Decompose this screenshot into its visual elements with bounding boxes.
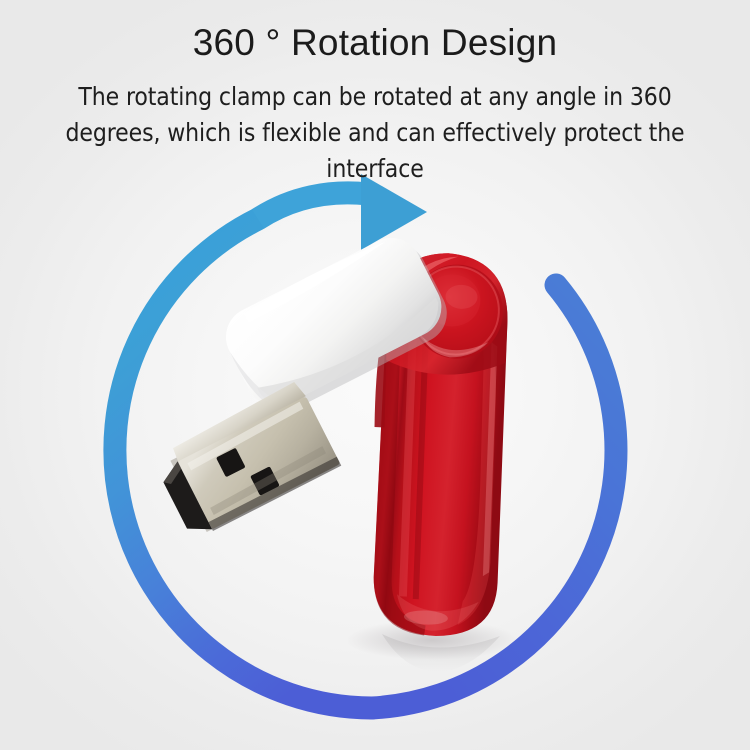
product-feature-image: 360 ° Rotation Design The rotating clamp… [0, 0, 750, 750]
text-block: 360 ° Rotation Design The rotating clamp… [0, 0, 750, 187]
page-subtitle: The rotating clamp can be rotated at any… [30, 65, 720, 188]
usb-a-connector [150, 380, 341, 541]
page-title: 360 ° Rotation Design [0, 0, 750, 65]
